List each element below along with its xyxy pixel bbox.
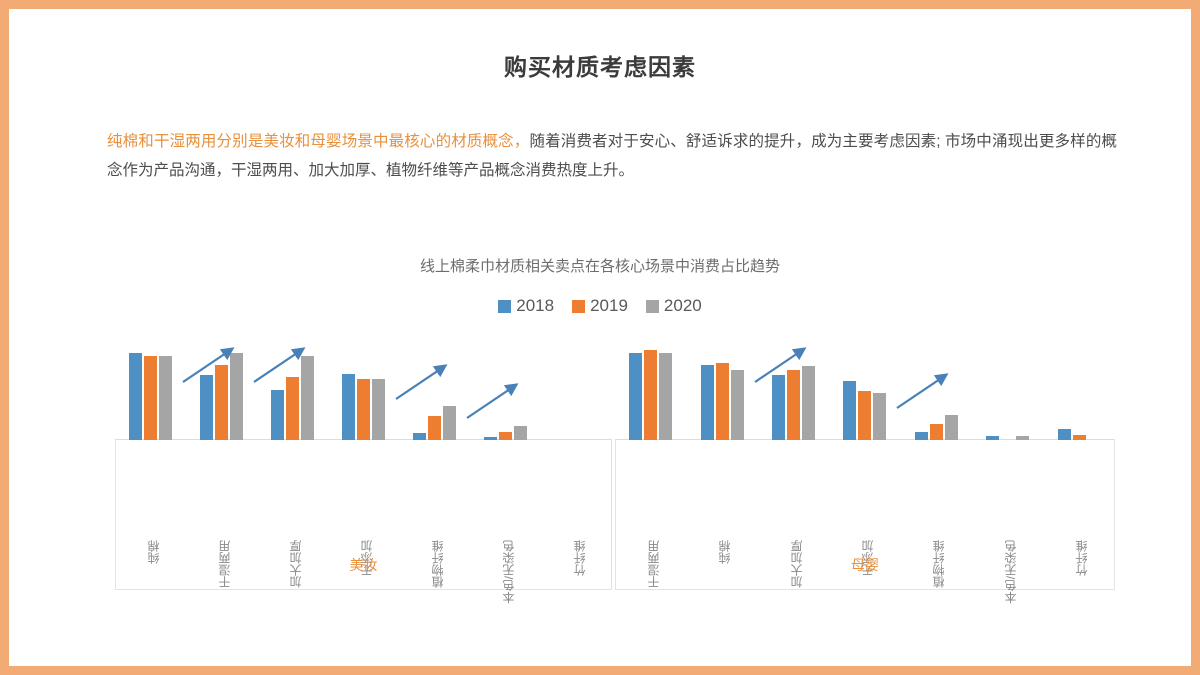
legend-item-2019[interactable]: 2019 — [572, 296, 628, 316]
bar-2020[interactable] — [443, 406, 456, 440]
bar-2020[interactable] — [1016, 436, 1029, 440]
chart-panel-母婴: 干湿两用纯棉加大加厚无添加植物纤维本色/无染色竹纤维母婴 — [615, 345, 1115, 590]
lede-highlight: 纯棉和干湿两用分别是美妆和母婴场景中最核心的材质概念， — [107, 133, 529, 150]
legend-item-2018[interactable]: 2018 — [498, 296, 554, 316]
bar-group — [399, 345, 470, 440]
bar-group — [186, 345, 257, 440]
bars — [686, 345, 757, 440]
bar-2019[interactable] — [357, 379, 370, 440]
legend-swatch-icon-2018 — [498, 300, 511, 313]
chart-title: 线上棉柔巾材质相关卖点在各核心场景中消费占比趋势 — [15, 255, 1185, 276]
bar-2018[interactable] — [701, 365, 714, 440]
bars — [470, 345, 541, 440]
bars — [972, 345, 1043, 440]
bar-2018[interactable] — [1058, 429, 1071, 440]
bars — [829, 345, 900, 440]
bar-2018[interactable] — [772, 375, 785, 440]
bar-2018[interactable] — [342, 374, 355, 440]
bar-2018[interactable] — [843, 381, 856, 440]
bar-group — [470, 345, 541, 440]
bar-2020[interactable] — [301, 356, 314, 440]
bar-2018[interactable] — [629, 353, 642, 440]
bar-2019[interactable] — [215, 365, 228, 440]
bar-group — [328, 345, 399, 440]
bar-2019[interactable] — [930, 424, 943, 440]
scene-label: 母婴 — [616, 555, 1114, 575]
bar-2019[interactable] — [286, 377, 299, 440]
page-title: 购买材质考虑因素 — [15, 48, 1185, 82]
bar-group — [257, 345, 328, 440]
bar-2019[interactable] — [858, 391, 871, 440]
slide: 购买材质考虑因素 纯棉和干湿两用分别是美妆和母婴场景中最核心的材质概念，随着消费… — [0, 0, 1200, 675]
bars — [399, 345, 470, 440]
bar-2019[interactable] — [644, 350, 657, 440]
legend-label: 2020 — [664, 296, 702, 316]
bar-group — [541, 345, 612, 440]
bar-2018[interactable] — [484, 437, 497, 440]
bars — [257, 345, 328, 440]
bar-group — [829, 345, 900, 440]
bar-2019[interactable] — [1073, 435, 1086, 440]
legend-swatch-icon-2020 — [646, 300, 659, 313]
bar-2020[interactable] — [514, 426, 527, 441]
bars — [541, 345, 612, 440]
legend-item-2020[interactable]: 2020 — [646, 296, 702, 316]
bar-group — [115, 345, 186, 440]
bar-group — [972, 345, 1043, 440]
bar-2020[interactable] — [731, 370, 744, 440]
bar-2020[interactable] — [159, 356, 172, 440]
bars — [1044, 345, 1115, 440]
bar-2018[interactable] — [129, 353, 142, 440]
bar-2020[interactable] — [659, 353, 672, 440]
bar-group — [615, 345, 686, 440]
lede-paragraph: 纯棉和干湿两用分别是美妆和母婴场景中最核心的材质概念，随着消费者对于安心、舒适诉… — [107, 127, 1117, 185]
bar-group — [901, 345, 972, 440]
bar-2019[interactable] — [499, 432, 512, 440]
chart-panels: 纯棉干湿两用加大加厚无添加植物纤维本色/无染色竹纤维美妆干湿两用纯棉加大加厚无添… — [115, 345, 1115, 590]
bar-2020[interactable] — [372, 379, 385, 440]
slide-inner: 购买材质考虑因素 纯棉和干湿两用分别是美妆和母婴场景中最核心的材质概念，随着消费… — [9, 9, 1191, 666]
bar-2018[interactable] — [271, 390, 284, 440]
bar-2019[interactable] — [787, 370, 800, 440]
bars — [115, 345, 186, 440]
bar-group — [758, 345, 829, 440]
scene-label: 美妆 — [116, 555, 611, 575]
bar-2018[interactable] — [413, 433, 426, 440]
legend-label: 2018 — [516, 296, 554, 316]
bars — [186, 345, 257, 440]
bars — [615, 345, 686, 440]
bar-2020[interactable] — [802, 366, 815, 440]
plot-area — [615, 345, 1115, 440]
bar-2018[interactable] — [986, 436, 999, 440]
chart-legend: 201820192020 — [15, 296, 1185, 316]
bar-2019[interactable] — [428, 416, 441, 440]
panel-frame: 纯棉干湿两用加大加厚无添加植物纤维本色/无染色竹纤维美妆 — [115, 439, 612, 590]
bar-2020[interactable] — [873, 393, 886, 441]
bar-2018[interactable] — [200, 375, 213, 440]
bar-group — [686, 345, 757, 440]
legend-swatch-icon-2019 — [572, 300, 585, 313]
bar-2018[interactable] — [915, 432, 928, 440]
bar-2019[interactable] — [716, 363, 729, 440]
plot-area — [115, 345, 612, 440]
bar-2019[interactable] — [144, 356, 157, 440]
chart-panel-美妆: 纯棉干湿两用加大加厚无添加植物纤维本色/无染色竹纤维美妆 — [115, 345, 612, 590]
bars — [758, 345, 829, 440]
bars — [328, 345, 399, 440]
bar-2020[interactable] — [945, 415, 958, 440]
legend-label: 2019 — [590, 296, 628, 316]
bar-2020[interactable] — [230, 353, 243, 440]
bars — [901, 345, 972, 440]
bar-group — [1044, 345, 1115, 440]
panel-frame: 干湿两用纯棉加大加厚无添加植物纤维本色/无染色竹纤维母婴 — [615, 439, 1115, 590]
